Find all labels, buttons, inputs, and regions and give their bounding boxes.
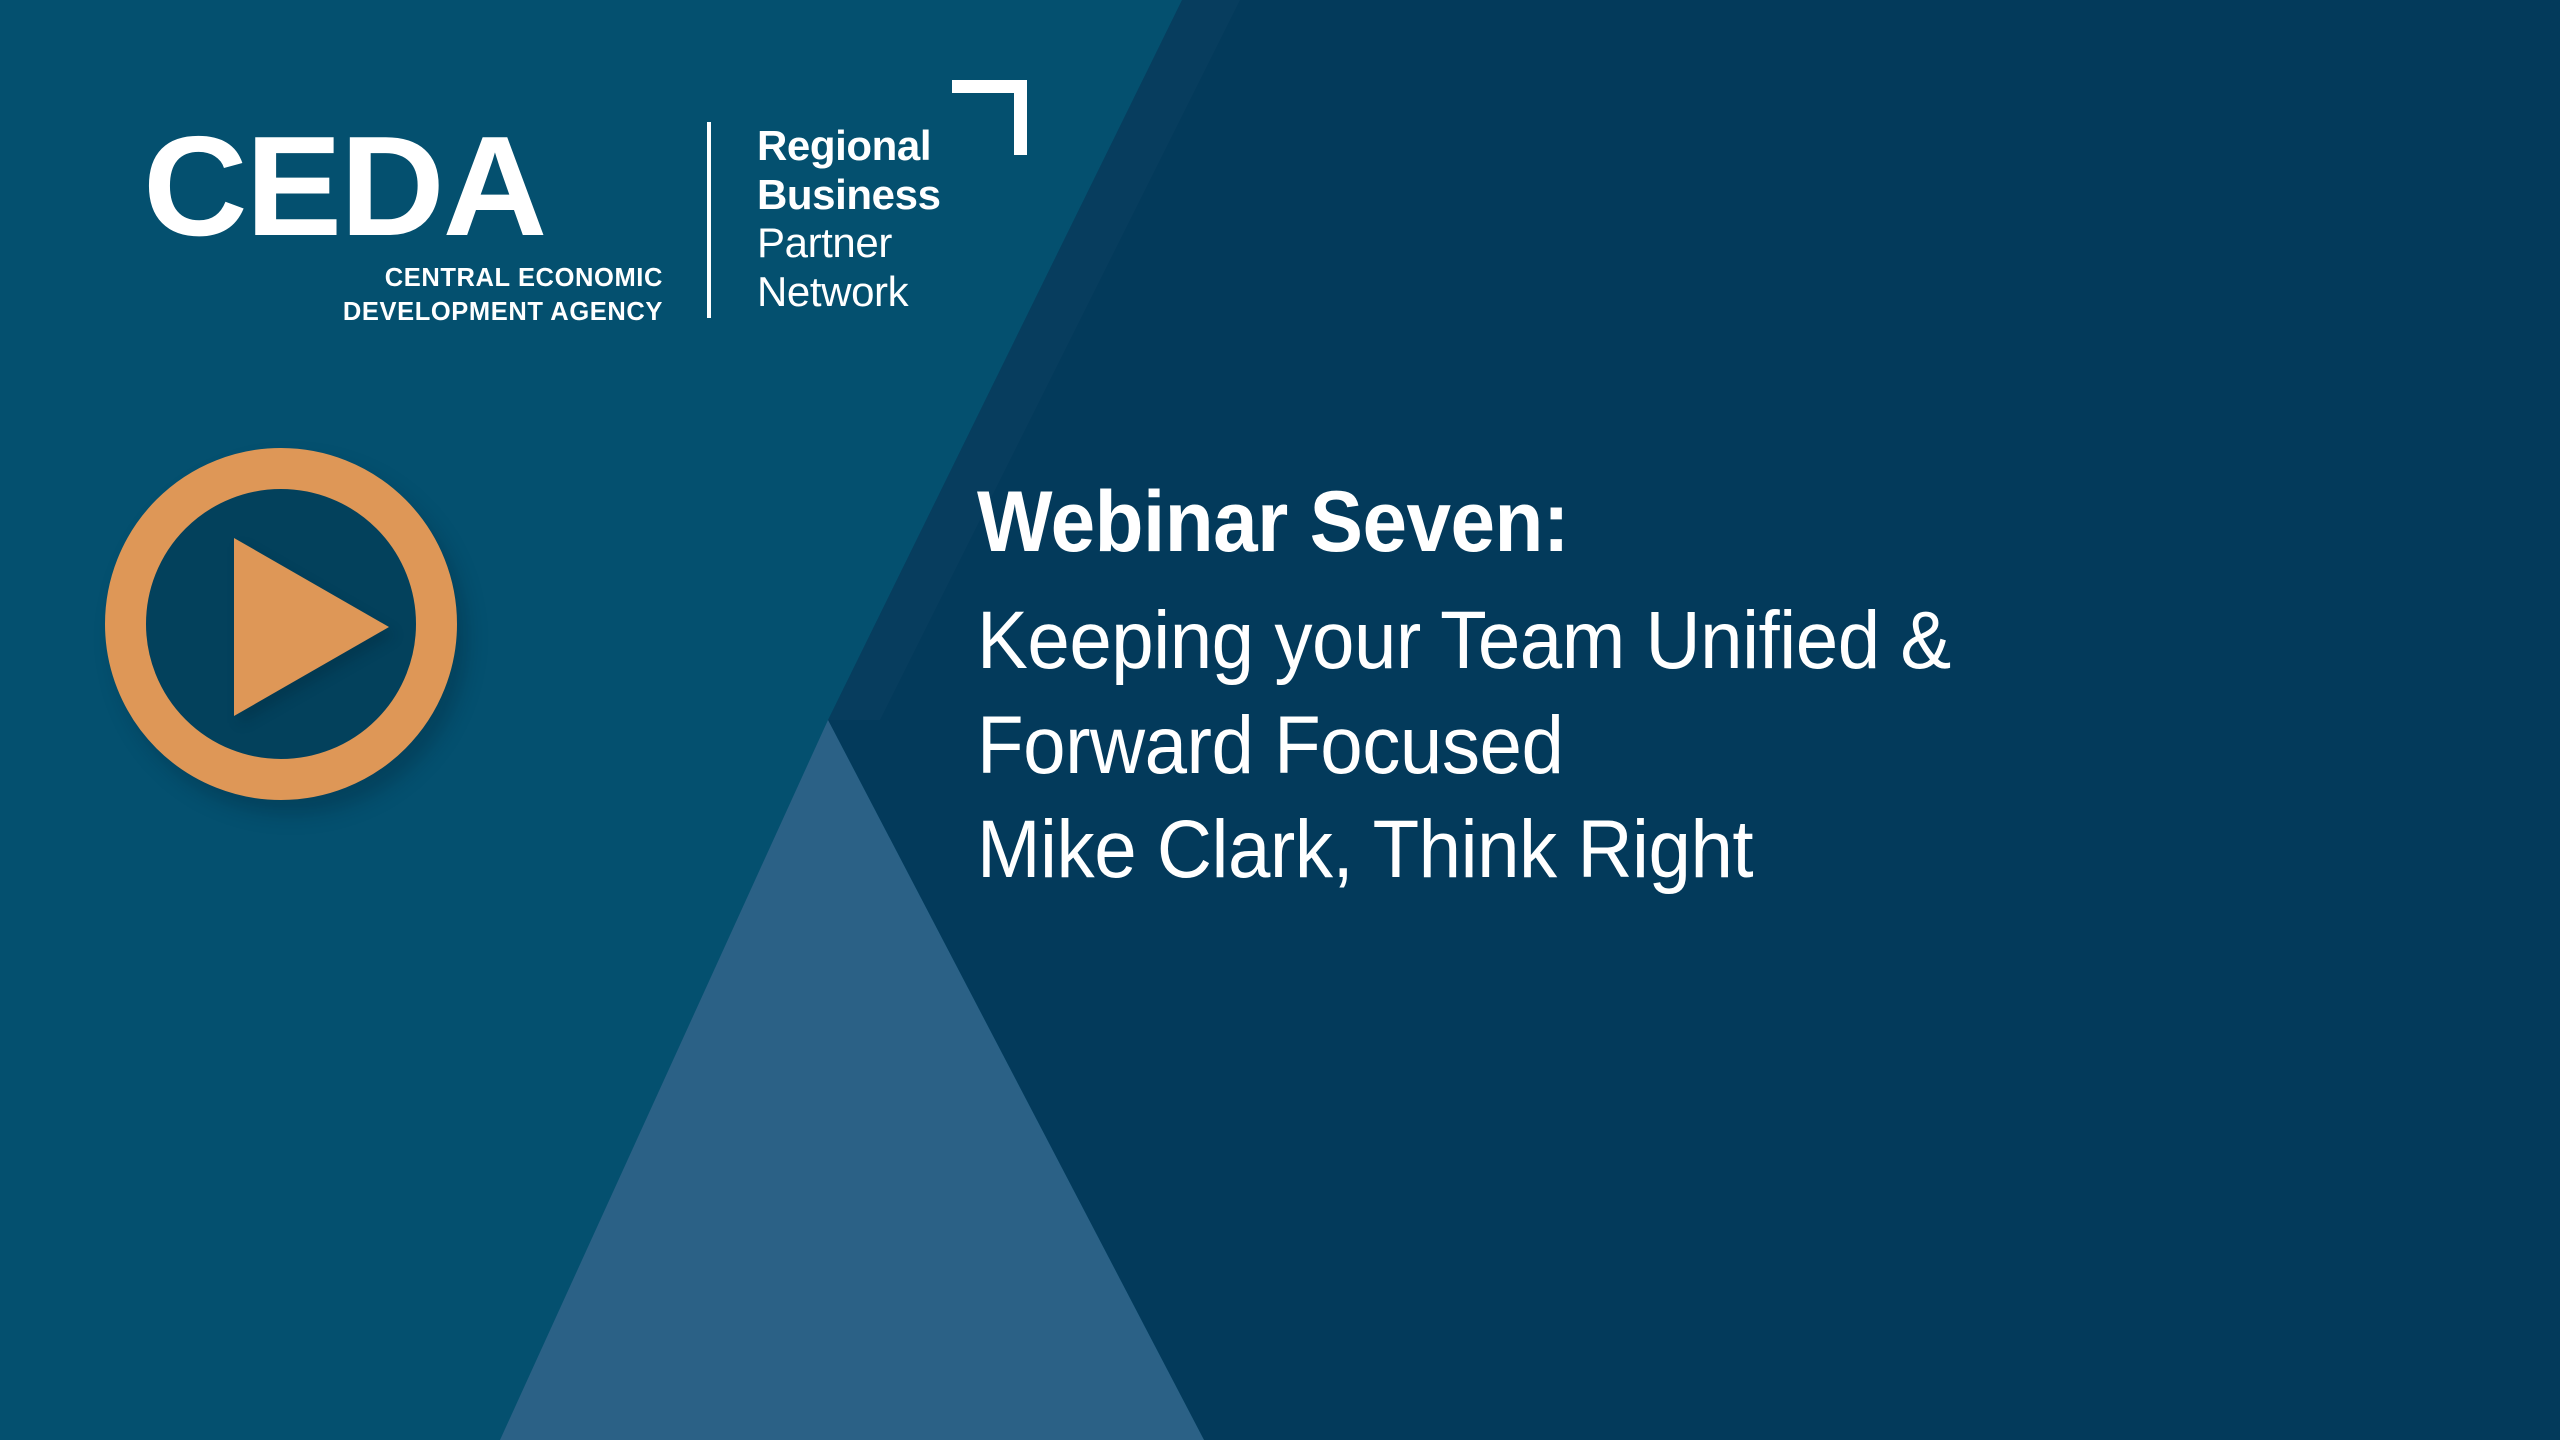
- subtitle-line-1: Keeping your Team Unified &: [977, 589, 2344, 694]
- rbp-line-business: Business: [757, 171, 941, 220]
- corner-bracket-icon: [952, 80, 1027, 155]
- rbp-line-network: Network: [757, 268, 941, 317]
- logo-lockup: CEDA CENTRAL ECONOMIC DEVELOPMENT AGENCY…: [143, 120, 941, 328]
- slide-canvas: CEDA CENTRAL ECONOMIC DEVELOPMENT AGENCY…: [0, 0, 2560, 1440]
- rbp-line-partner: Partner: [757, 219, 941, 268]
- rbp-line-regional: Regional: [757, 122, 941, 171]
- headline-block: Webinar Seven: Keeping your Team Unified…: [977, 478, 2447, 903]
- webinar-subtitle: Keeping your Team Unified & Forward Focu…: [977, 589, 2344, 904]
- webinar-title: Webinar Seven:: [977, 478, 2344, 567]
- play-triangle-icon: [234, 538, 389, 716]
- play-button[interactable]: [105, 448, 457, 800]
- regional-business-partner-logo: Regional Business Partner Network: [757, 120, 941, 317]
- ceda-acronym: CEDA: [143, 120, 673, 253]
- ceda-logo: CEDA CENTRAL ECONOMIC DEVELOPMENT AGENCY: [143, 120, 663, 328]
- logo-divider: [707, 122, 711, 318]
- ceda-expansion-line-2: DEVELOPMENT AGENCY: [143, 297, 663, 328]
- presenter-line: Mike Clark, Think Right: [977, 798, 2344, 903]
- subtitle-line-2: Forward Focused: [977, 694, 2344, 799]
- ceda-expansion-line-1: CENTRAL ECONOMIC: [143, 263, 663, 294]
